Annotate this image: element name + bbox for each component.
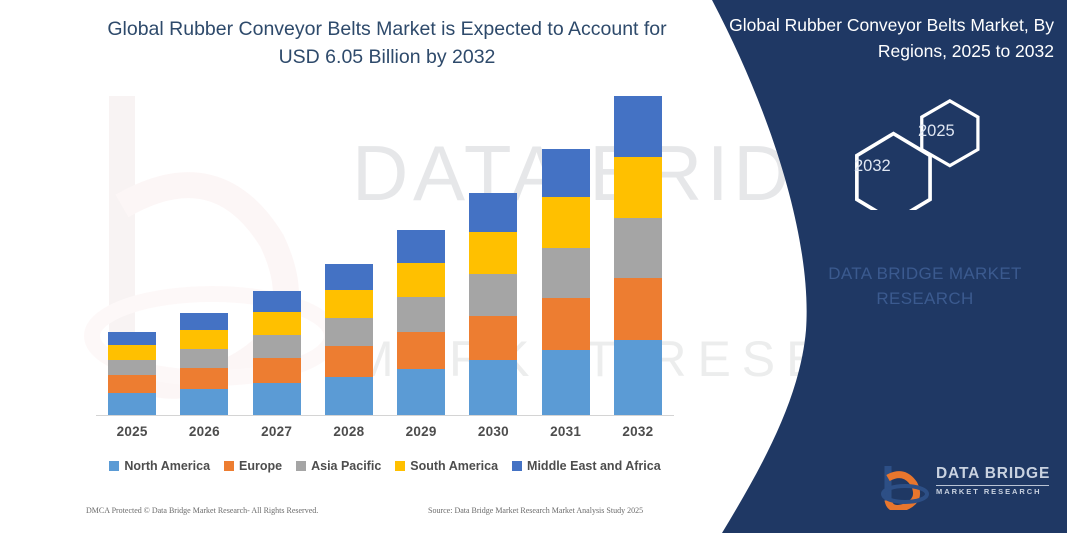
bar-segment-2027-south-america: [253, 312, 301, 335]
legend-swatch-icon: [512, 461, 522, 471]
bar-segment-2027-north-america: [253, 383, 301, 415]
bar-segment-2029-middle-east-and-africa: [397, 230, 445, 262]
bar-2026: [180, 313, 228, 415]
x-tick-2030: 2030: [457, 424, 529, 439]
bar-segment-2030-north-america: [469, 360, 517, 415]
bar-2032: [614, 96, 662, 415]
brand-logo-name: DATA BRIDGE: [936, 465, 1050, 483]
stacked-bar-chart: [96, 96, 674, 416]
bar-segment-2029-south-america: [397, 263, 445, 297]
bar-2030: [469, 193, 517, 415]
x-tick-2026: 2026: [168, 424, 240, 439]
bar-2028: [325, 264, 373, 415]
bar-segment-2026-europe: [180, 368, 228, 389]
legend-swatch-icon: [224, 461, 234, 471]
hexagon-group: 2032 2025: [820, 95, 1000, 210]
x-tick-2032: 2032: [602, 424, 674, 439]
bar-segment-2030-asia-pacific: [469, 274, 517, 316]
bar-segment-2027-europe: [253, 358, 301, 383]
footer-source: Source: Data Bridge Market Research Mark…: [428, 506, 643, 515]
legend-swatch-icon: [296, 461, 306, 471]
bar-segment-2029-europe: [397, 332, 445, 369]
bar-segment-2025-middle-east-and-africa: [108, 332, 156, 345]
brand-logo-mark-icon: [878, 462, 934, 510]
x-axis-line: [96, 415, 674, 416]
chart-legend: North AmericaEuropeAsia PacificSouth Ame…: [96, 456, 674, 476]
bar-segment-2029-north-america: [397, 369, 445, 415]
bar-segment-2030-south-america: [469, 232, 517, 274]
brand-logo-tagline: MARKET RESEARCH: [936, 487, 1042, 496]
legend-item-south-america[interactable]: South America: [395, 459, 498, 473]
bar-segment-2032-north-america: [614, 340, 662, 415]
bar-segment-2026-asia-pacific: [180, 349, 228, 368]
bar-segment-2031-north-america: [542, 350, 590, 415]
right-panel-watermark: DATA BRIDGE MARKET RESEARCH: [800, 262, 1050, 311]
bar-segment-2032-middle-east-and-africa: [614, 96, 662, 157]
x-tick-2025: 2025: [96, 424, 168, 439]
page-title: Global Rubber Conveyor Belts Market is E…: [92, 16, 682, 71]
bar-2027: [253, 291, 301, 415]
legend-item-north-america[interactable]: North America: [109, 459, 210, 473]
legend-swatch-icon: [109, 461, 119, 471]
bar-2029: [397, 230, 445, 415]
hexagon-2025-label: 2025: [918, 122, 955, 141]
bar-segment-2032-europe: [614, 278, 662, 340]
bar-segment-2031-south-america: [542, 197, 590, 248]
bar-segment-2032-asia-pacific: [614, 218, 662, 278]
bar-segment-2031-middle-east-and-africa: [542, 149, 590, 197]
legend-label: Middle East and Africa: [527, 459, 661, 473]
bar-segment-2026-south-america: [180, 330, 228, 348]
bar-segment-2028-north-america: [325, 377, 373, 415]
legend-label: South America: [410, 459, 498, 473]
legend-label: Asia Pacific: [311, 459, 381, 473]
bar-segment-2032-south-america: [614, 157, 662, 218]
brand-logo: DATA BRIDGE MARKET RESEARCH: [878, 462, 1058, 512]
bar-segment-2025-europe: [108, 375, 156, 392]
footer-copyright: DMCA Protected © Data Bridge Market Rese…: [86, 506, 318, 515]
bar-segment-2031-asia-pacific: [542, 248, 590, 299]
hexagon-2032-label: 2032: [854, 157, 891, 176]
right-panel-title: Global Rubber Conveyor Belts Market, By …: [724, 12, 1054, 65]
bar-2025: [108, 332, 156, 415]
x-axis-tick-labels: 20252026202720282029203020312032: [96, 424, 674, 446]
x-tick-2031: 2031: [530, 424, 602, 439]
bar-segment-2028-asia-pacific: [325, 318, 373, 346]
bar-segment-2026-north-america: [180, 389, 228, 415]
legend-item-europe[interactable]: Europe: [224, 459, 282, 473]
bar-segment-2025-south-america: [108, 345, 156, 360]
bar-segment-2026-middle-east-and-africa: [180, 313, 228, 330]
bar-segment-2030-middle-east-and-africa: [469, 193, 517, 233]
infographic-canvas: DATA BRIDGE MARKET RESEARCH Global Rubbe…: [0, 0, 1067, 533]
bar-segment-2025-asia-pacific: [108, 360, 156, 375]
bar-segment-2028-middle-east-and-africa: [325, 264, 373, 290]
legend-label: North America: [124, 459, 210, 473]
bar-segment-2028-europe: [325, 346, 373, 377]
legend-item-middle-east-and-africa[interactable]: Middle East and Africa: [512, 459, 661, 473]
legend-label: Europe: [239, 459, 282, 473]
legend-swatch-icon: [395, 461, 405, 471]
brand-logo-divider: [936, 485, 1049, 486]
bar-segment-2025-north-america: [108, 393, 156, 415]
bar-segment-2031-europe: [542, 298, 590, 350]
x-tick-2029: 2029: [385, 424, 457, 439]
footer: DMCA Protected © Data Bridge Market Rese…: [86, 506, 686, 522]
x-tick-2027: 2027: [241, 424, 313, 439]
bar-segment-2030-europe: [469, 316, 517, 360]
chart-plot-area: [96, 96, 674, 415]
bar-segment-2028-south-america: [325, 290, 373, 318]
bar-segment-2029-asia-pacific: [397, 297, 445, 332]
bar-segment-2027-middle-east-and-africa: [253, 291, 301, 312]
legend-item-asia-pacific[interactable]: Asia Pacific: [296, 459, 381, 473]
bar-segment-2027-asia-pacific: [253, 335, 301, 358]
bar-2031: [542, 149, 590, 415]
x-tick-2028: 2028: [313, 424, 385, 439]
